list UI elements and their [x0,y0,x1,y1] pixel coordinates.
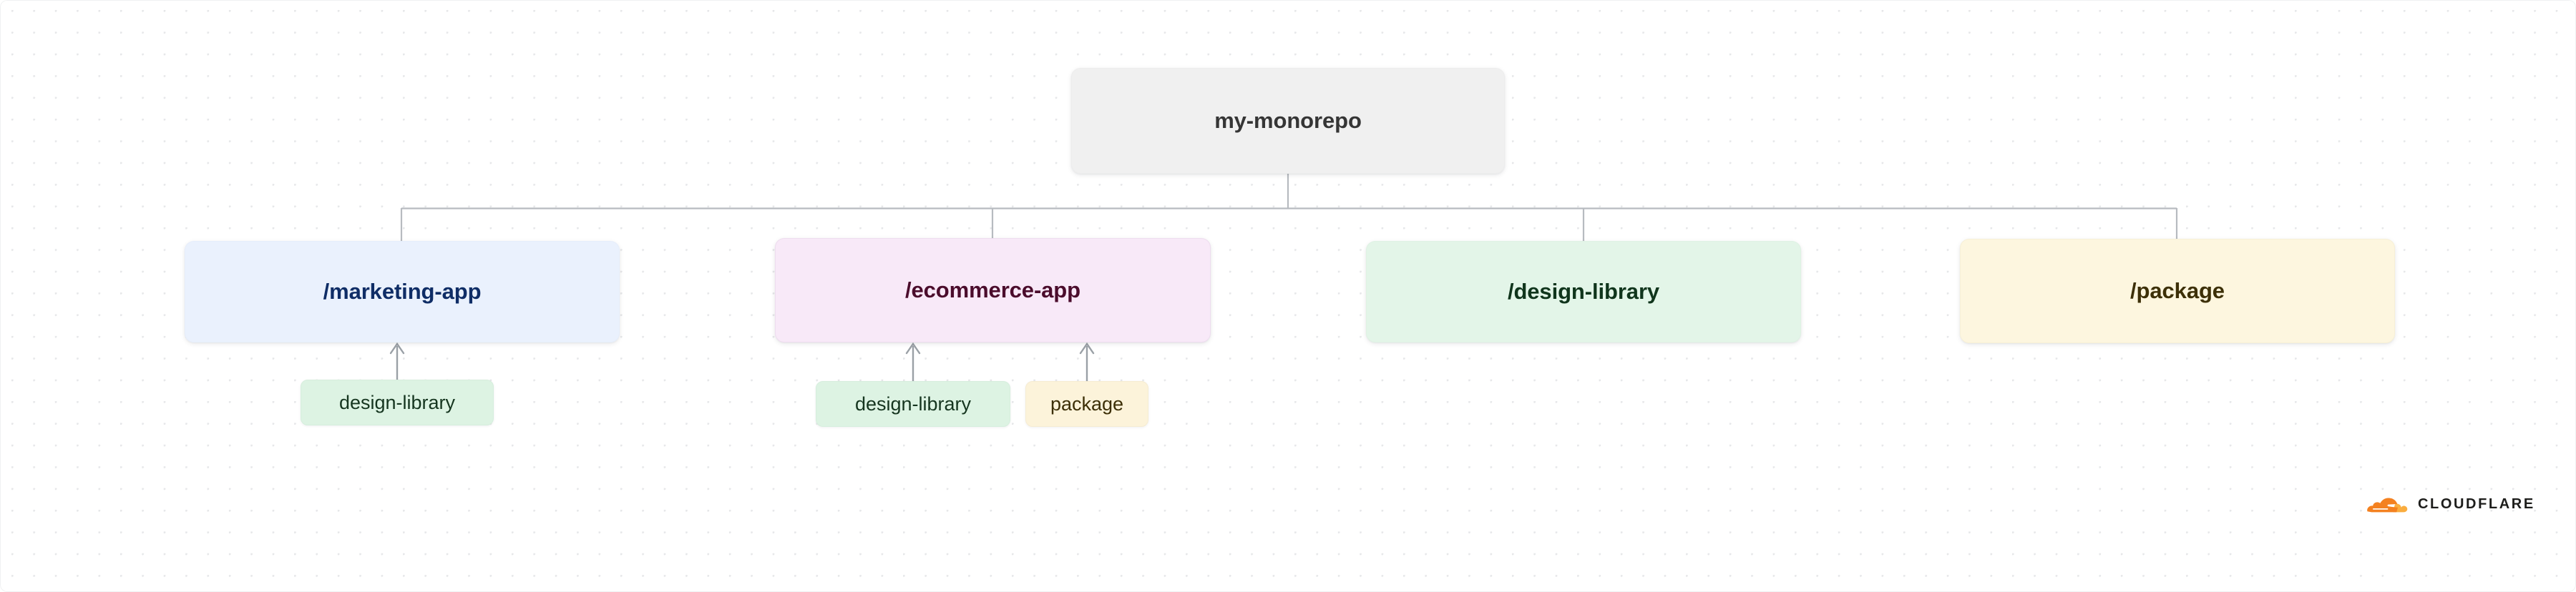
dependency-chip-label: package [1050,393,1123,415]
cloudflare-cloud-icon [2361,493,2409,515]
node-label: /package [2130,278,2225,304]
node-marketing-app[interactable]: /marketing-app [185,241,620,342]
diagram-canvas[interactable]: my-monorepo /marketing-app /ecommerce-ap… [0,0,2576,592]
node-label: /marketing-app [323,279,482,305]
arrowhead-marketing-design [391,344,404,353]
arrowhead-ecommerce-package [1080,344,1093,353]
dependency-chip-design-library[interactable]: design-library [816,381,1010,427]
dependency-chip-label: design-library [339,392,455,414]
node-my-monorepo[interactable]: my-monorepo [1071,68,1505,174]
dependency-chip-label: design-library [855,393,971,415]
cloudflare-wordmark: CLOUDFLARE [2418,496,2535,513]
node-label: /design-library [1508,279,1659,305]
dependency-chip-package[interactable]: package [1025,381,1148,427]
node-ecommerce-app[interactable]: /ecommerce-app [775,238,1211,342]
node-label: /ecommerce-app [905,277,1080,303]
cloudflare-logo: CLOUDFLARE [2361,493,2535,515]
arrowhead-ecommerce-design [907,344,919,353]
node-design-library[interactable]: /design-library [1366,241,1801,342]
node-package[interactable]: /package [1960,239,2395,343]
node-label: my-monorepo [1214,108,1362,134]
dependency-chip-design-library[interactable]: design-library [301,380,494,425]
